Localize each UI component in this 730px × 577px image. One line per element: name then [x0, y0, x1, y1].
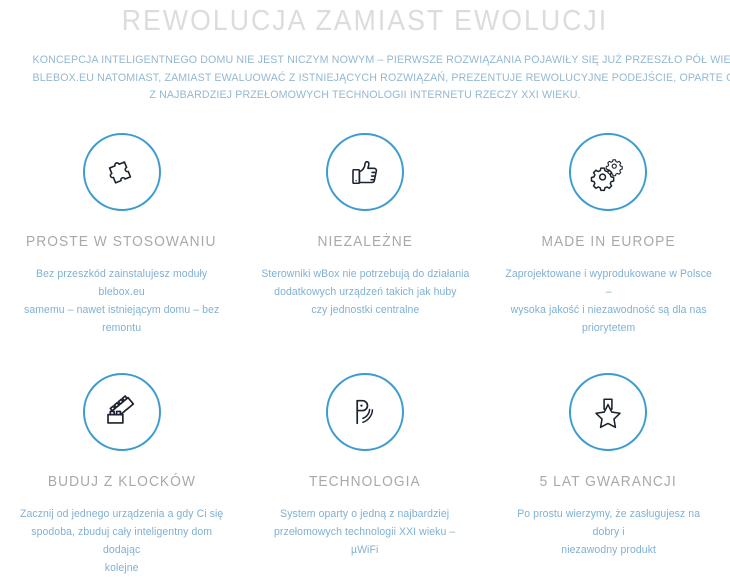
card-body-line: samemu – nawet istniejącym domu – bez re… [16, 301, 227, 337]
star-award-icon [591, 395, 625, 429]
card-body: Bez przeszkód zainstalujesz moduły blebo… [16, 265, 227, 337]
antenna-signal-icon [348, 395, 382, 429]
hero-paragraph-line: BLEBOX.EU NATOMIAST, ZAMIAST EWALUOWAĆ Z… [33, 70, 698, 88]
card-body-line: Zacznij od jednego urządzenia a gdy Ci s… [16, 505, 227, 523]
icon-circle [83, 373, 161, 451]
gears-icon [588, 152, 628, 192]
card-title: MADE IN EUROPE [541, 233, 675, 251]
hero-header: REWOLUCJA ZAMIAST EWOLUCJI KONCEPCJA INT… [0, 0, 730, 105]
card-body: Sterowniki wBox nie potrzebują do działa… [261, 265, 469, 319]
card-title: BUDUJ Z KLOCKÓW [48, 473, 196, 491]
feature-card-niezalezne: NIEZALEŻNE Sterowniki wBox nie potrzebuj… [243, 133, 486, 337]
hero-paragraph: KONCEPCJA INTELIGENTNEGO DOMU NIE JEST N… [33, 52, 698, 105]
card-body-line: Bez przeszkód zainstalujesz moduły blebo… [16, 265, 227, 301]
icon-circle [569, 373, 647, 451]
feature-card-made-in-europe: MADE IN EUROPE Zaprojektowane i wyproduk… [487, 133, 730, 337]
card-body-line: niezawodny produkt [503, 541, 714, 559]
card-body-line: dodatkowych urządzeń takich jak huby [261, 283, 469, 301]
card-title: NIEZALEŻNE [317, 233, 412, 251]
row-divider-space [0, 337, 730, 373]
feature-card-5-lat-gwarancji: 5 LAT GWARANCJI Po prostu wierzymy, że z… [487, 373, 730, 577]
card-body-line: czy jednostki centralne [261, 301, 469, 319]
card-body: Zaprojektowane i wyprodukowane w Polsce … [503, 265, 714, 337]
card-body-line: Sterowniki wBox nie potrzebują do działa… [261, 265, 469, 283]
card-title: TECHNOLOGIA [309, 473, 421, 491]
card-body: Po prostu wierzymy, że zasługujesz na do… [503, 505, 714, 559]
card-body: System oparty o jedną z najbardziej prze… [260, 505, 471, 559]
card-title: 5 LAT GWARANCJI [540, 473, 677, 491]
thumbs-up-icon [347, 154, 383, 190]
puzzle-piece-icon [102, 152, 142, 192]
feature-section-page: REWOLUCJA ZAMIAST EWOLUCJI KONCEPCJA INT… [0, 0, 730, 541]
card-body-line: Zaprojektowane i wyprodukowane w Polsce … [503, 265, 714, 301]
feature-card-proste-w-stosowaniu: PROSTE W STOSOWANIU Bez przeszkód zainst… [0, 133, 243, 337]
card-body-line: Po prostu wierzymy, że zasługujesz na do… [503, 505, 714, 541]
card-body-line: System oparty o jedną z najbardziej [260, 505, 471, 523]
page-title: REWOLUCJA ZAMIAST EWOLUCJI [29, 4, 701, 38]
feature-card-technologia: TECHNOLOGIA System oparty o jedną z najb… [243, 373, 486, 577]
hero-paragraph-line: KONCEPCJA INTELIGENTNEGO DOMU NIE JEST N… [33, 52, 698, 70]
icon-circle [326, 133, 404, 211]
building-blocks-icon [101, 391, 143, 433]
icon-circle [83, 133, 161, 211]
icon-circle [326, 373, 404, 451]
card-title: PROSTE W STOSOWANIU [26, 233, 217, 251]
feature-card-buduj-z-klockow: BUDUJ Z KLOCKÓW Zacznij od jednego urząd… [0, 373, 243, 577]
hero-paragraph-line: Z NAJBARDZIEJ PRZEŁOMOWYCH TECHNOLOGII I… [33, 87, 698, 105]
feature-grid: PROSTE W STOSOWANIU Bez przeszkód zainst… [0, 133, 730, 577]
icon-circle [569, 133, 647, 211]
card-body-line: kolejne [16, 559, 227, 577]
card-body-line: wysoka jakość i niezawodność są dla nas [503, 301, 714, 319]
card-body-line: priorytetem [503, 319, 714, 337]
